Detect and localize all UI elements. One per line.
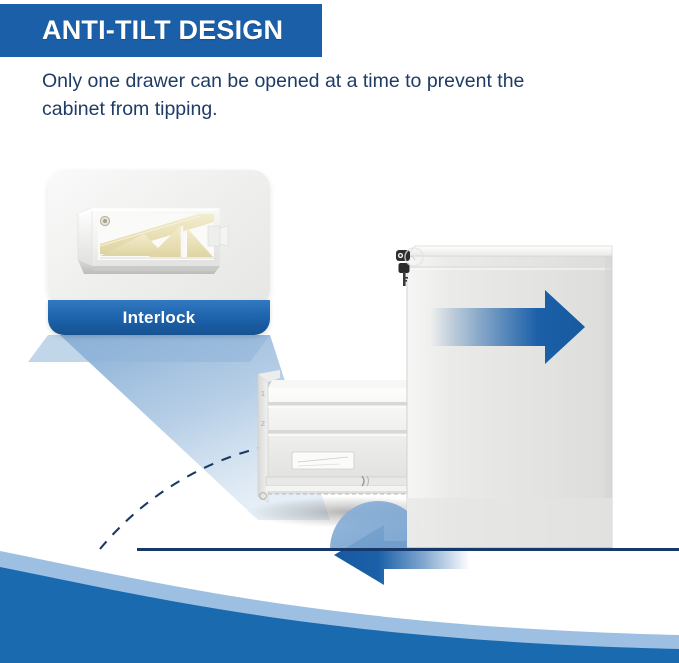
interlock-label-text: Interlock <box>123 308 196 328</box>
interlock-label-bar: Interlock <box>48 300 270 335</box>
interlock-bracket <box>48 170 270 307</box>
illustration-scene: 1 2 <box>0 130 679 600</box>
interlock-photo-panel <box>48 170 270 307</box>
drawer-label-holder <box>292 452 354 469</box>
infographic-canvas: ANTI-TILT DESIGN Only one drawer can be … <box>0 0 679 663</box>
svg-text:1: 1 <box>261 391 265 398</box>
page-title: ANTI-TILT DESIGN <box>0 15 283 46</box>
subtitle-text: Only one drawer can be opened at a time … <box>42 68 582 124</box>
svg-text:2: 2 <box>261 421 265 428</box>
header-banner: ANTI-TILT DESIGN <box>0 4 322 57</box>
